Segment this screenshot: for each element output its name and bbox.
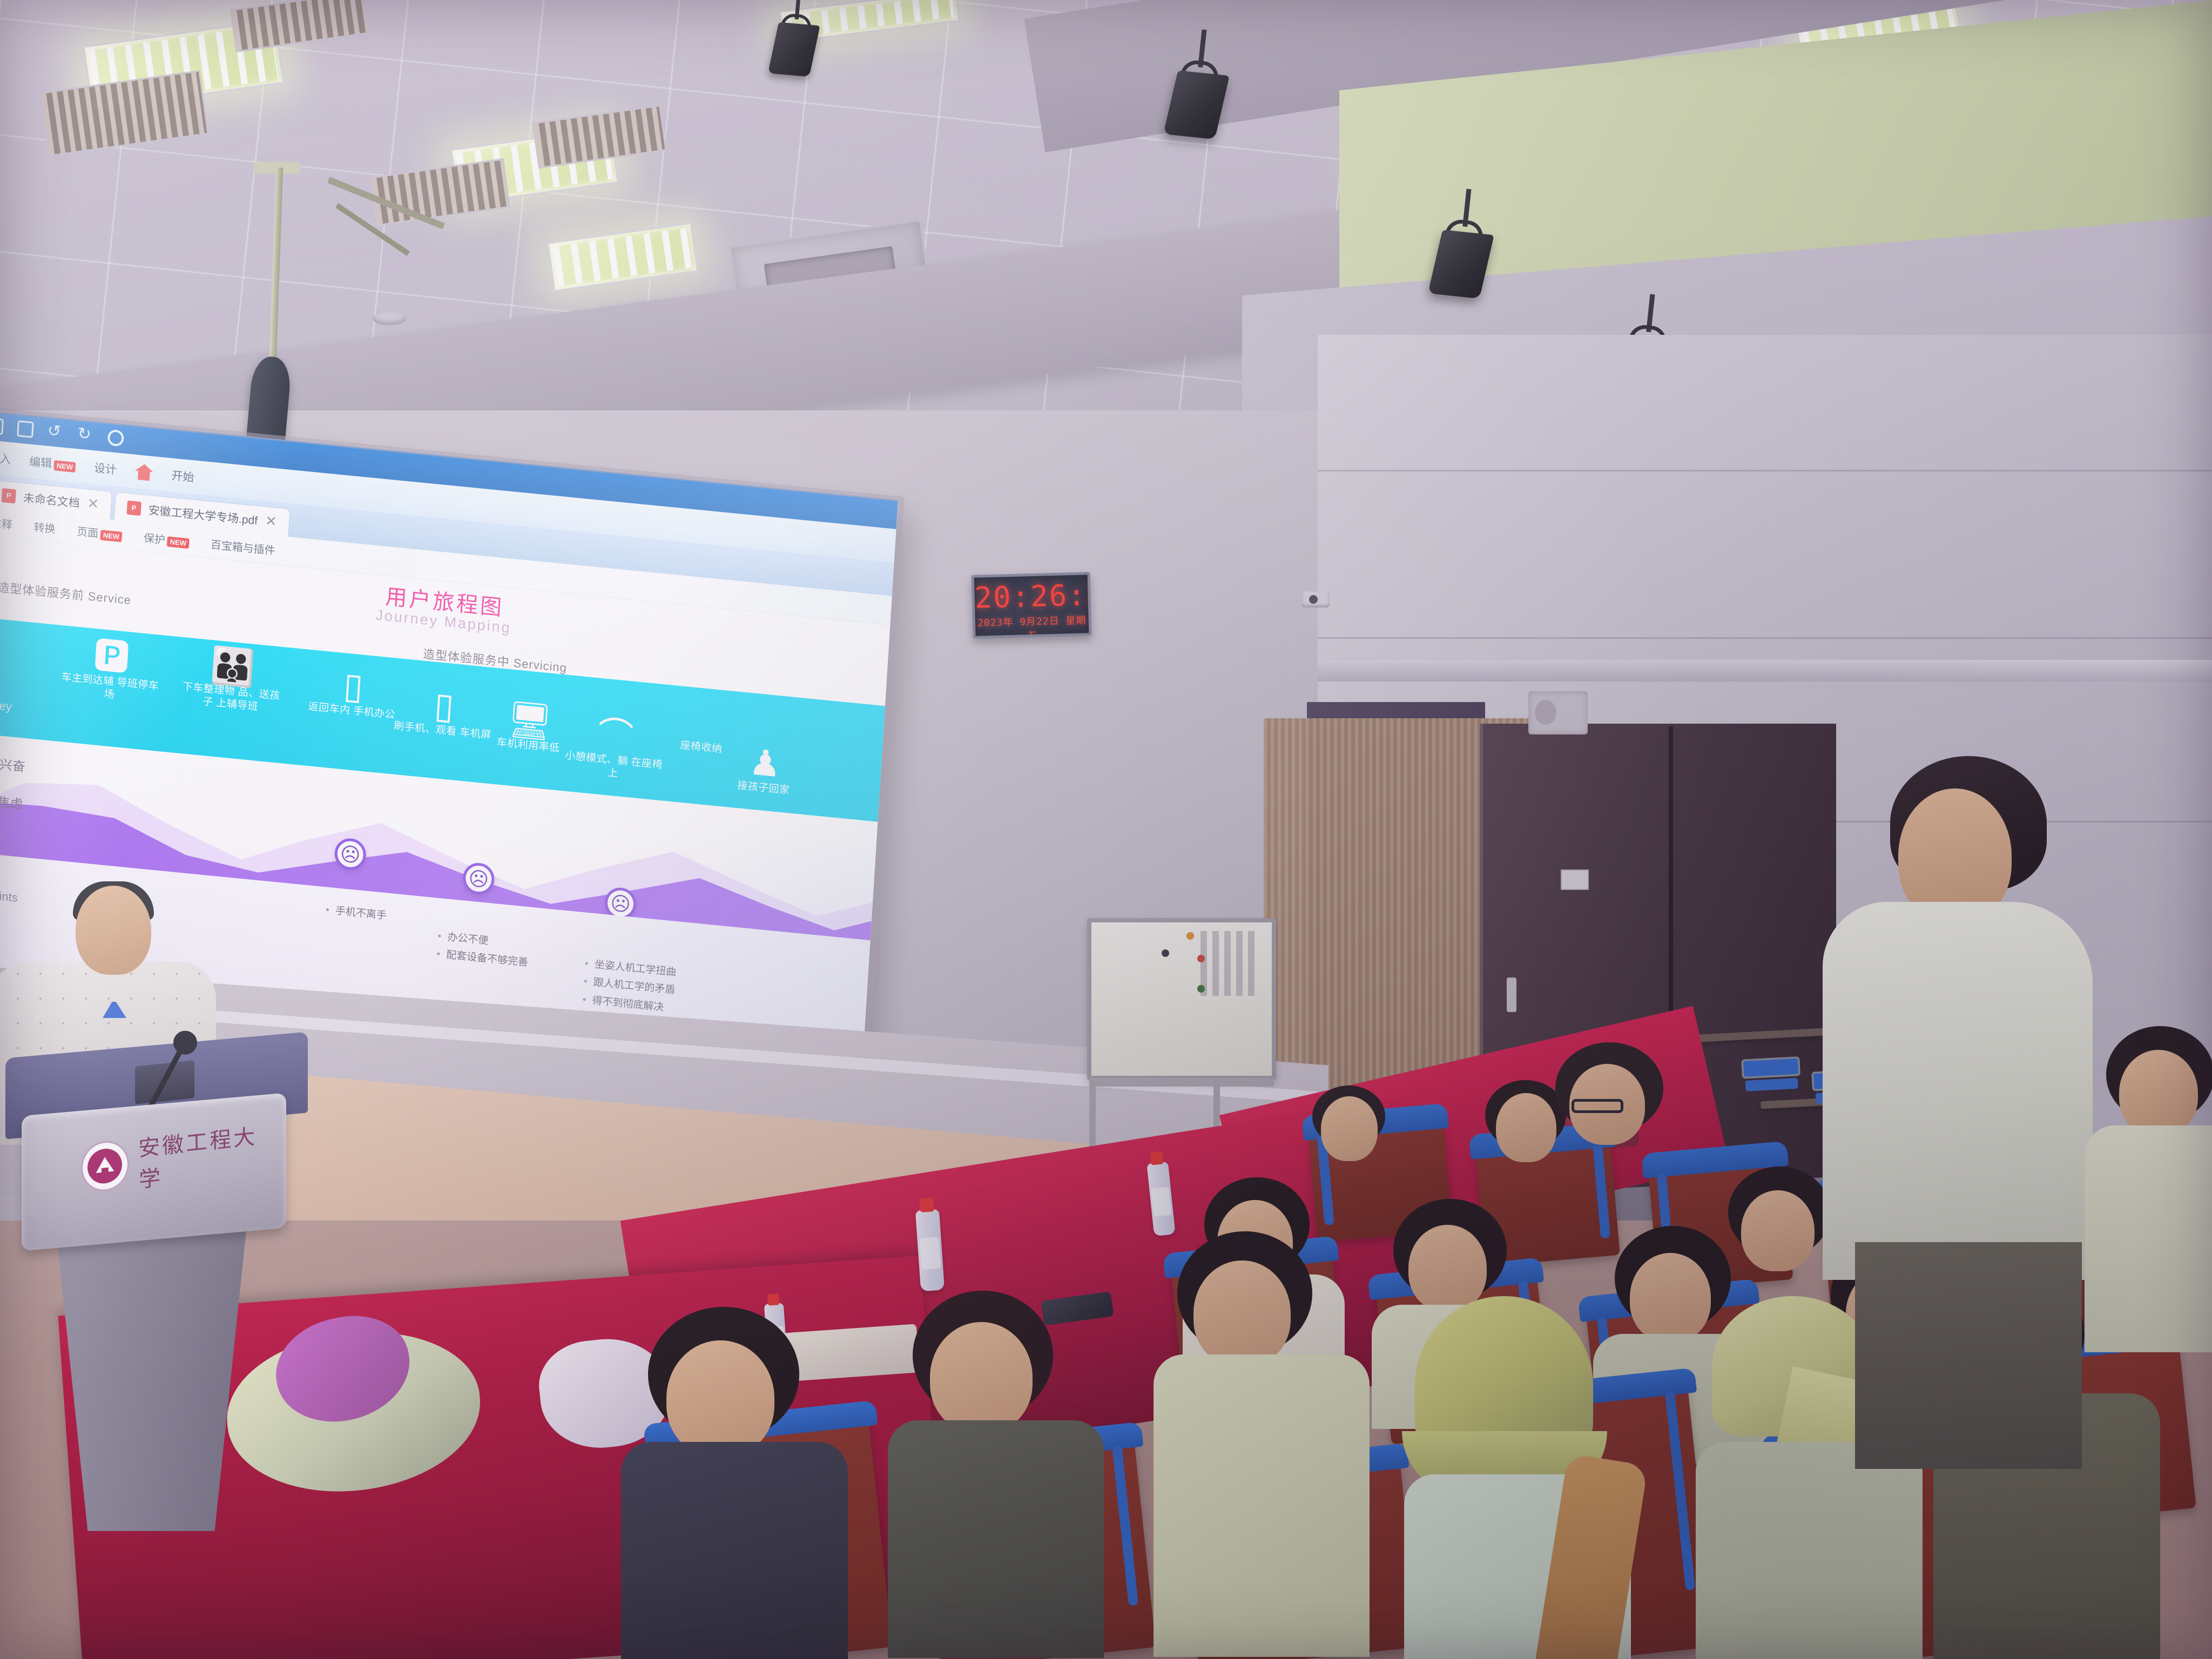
whiteboard-marker-tray xyxy=(1089,1078,1274,1087)
wall-speaker xyxy=(1528,691,1588,734)
whiteboard-surface[interactable] xyxy=(1087,918,1276,1080)
shoulders xyxy=(2085,1125,2212,1352)
shoulders xyxy=(1823,902,2093,1280)
shoulders xyxy=(888,1420,1104,1658)
whiteboard-scribbles xyxy=(1201,931,1260,996)
head xyxy=(1408,1225,1487,1311)
lectern-base xyxy=(38,1229,265,1531)
head xyxy=(930,1322,1033,1433)
whiteboard-magnet xyxy=(1186,932,1194,940)
university-name: 安徽工程大学 xyxy=(138,1117,276,1193)
trousers xyxy=(1855,1242,2082,1469)
head xyxy=(1321,1096,1378,1161)
head xyxy=(1496,1093,1556,1162)
whiteboard-magnet xyxy=(1197,985,1205,993)
head xyxy=(2119,1050,2198,1136)
digital-wall-clock: 20:26:21 2023年 9月22日 星期五 xyxy=(971,572,1091,639)
smoke-detector xyxy=(373,312,406,325)
head xyxy=(1741,1190,1815,1271)
clock-time: 20:26:21 xyxy=(974,580,1088,613)
shoulders xyxy=(1696,1442,1923,1659)
presenter-head xyxy=(76,886,151,975)
wall-outlet-plate xyxy=(1561,869,1589,890)
head xyxy=(1193,1260,1291,1366)
university-crest-icon xyxy=(80,1139,129,1193)
lectern: 安徽工程大学 xyxy=(5,1045,308,1585)
door-handle[interactable] xyxy=(1507,977,1516,1012)
whiteboard-magnet xyxy=(1162,949,1169,957)
whiteboard-magnet xyxy=(1197,955,1205,962)
shoulders xyxy=(621,1442,848,1659)
head xyxy=(666,1340,774,1456)
notebook xyxy=(781,1324,920,1381)
folding-chair[interactable] xyxy=(1741,1056,1802,1097)
shoulders xyxy=(1154,1354,1370,1657)
wall-ledge xyxy=(1318,660,2212,682)
lecture-hall-photo: 20:26:21 2023年 9月22日 星期五 ↺ ↻ 插入 编辑NEW 设计 xyxy=(0,0,2212,1659)
eyeglasses-icon xyxy=(1572,1099,1623,1113)
clock-date: 2023年 9月22日 星期五 xyxy=(975,612,1089,639)
head xyxy=(1630,1253,1711,1342)
ceiling-sensor-icon xyxy=(1301,591,1330,608)
